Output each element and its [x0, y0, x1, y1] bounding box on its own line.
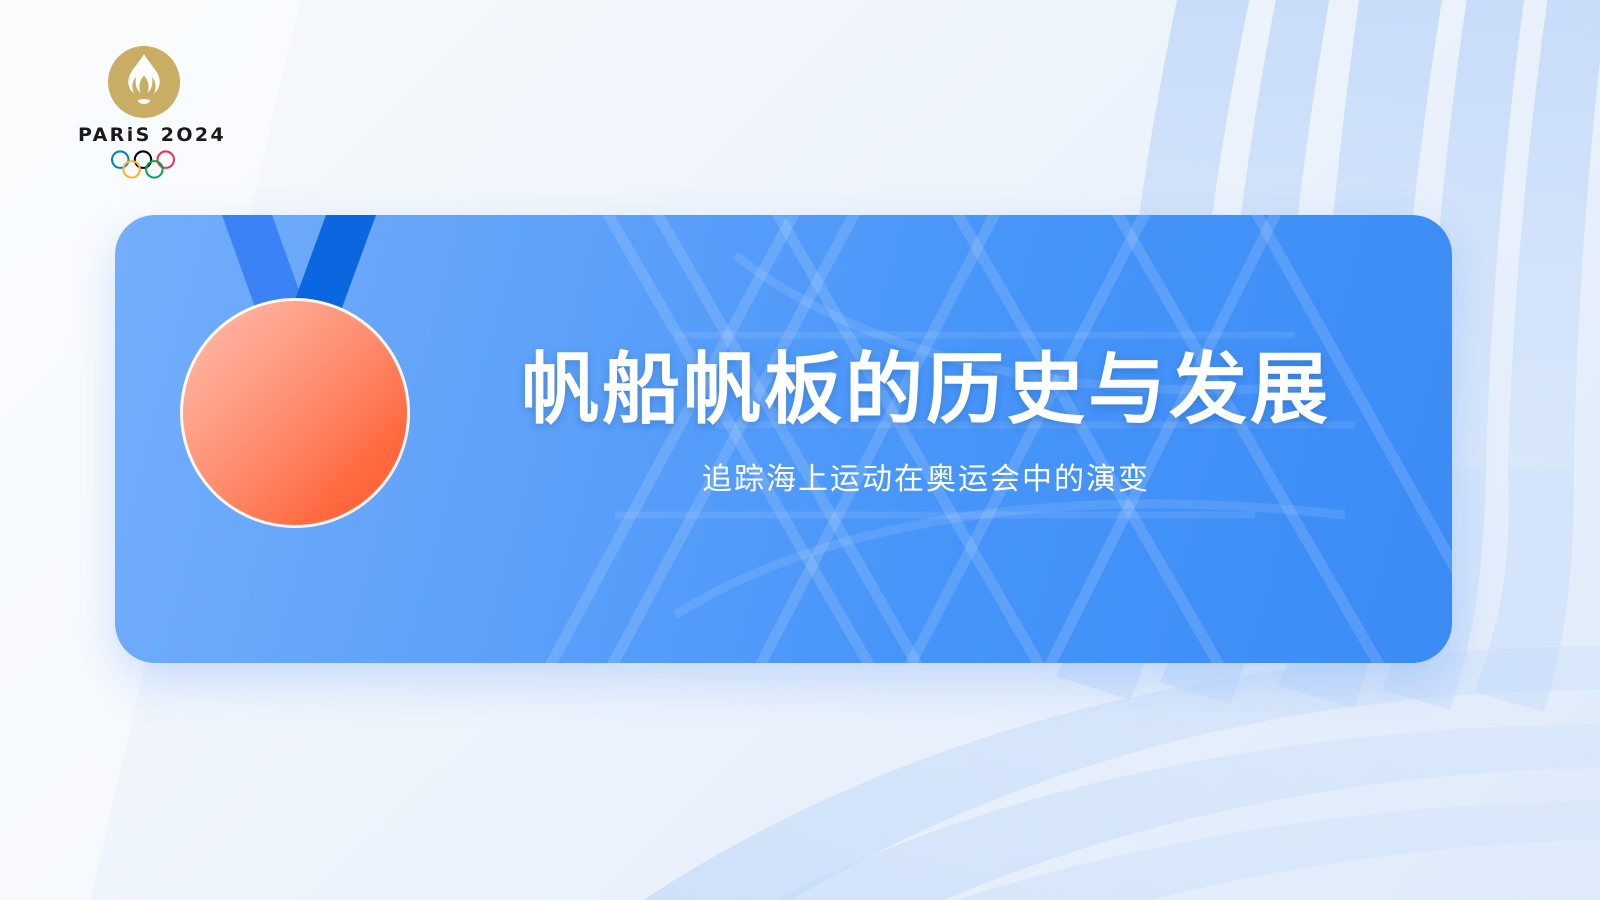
paris-2024-flame-emblem: [108, 46, 180, 118]
page-title: 帆船帆板的历史与发展: [470, 345, 1382, 434]
paris-2024-wordmark: PARiS 2O24: [78, 124, 206, 146]
paris-2024-logo: PARiS 2O24: [78, 46, 206, 186]
olympic-rings: [108, 150, 178, 180]
presentation-slide: PARiS 2O24: [0, 0, 1600, 900]
page-subtitle: 追踪海上运动在奥运会中的演变: [470, 454, 1382, 498]
title-block: 帆船帆板的历史与发展 追踪海上运动在奥运会中的演变: [470, 345, 1382, 498]
